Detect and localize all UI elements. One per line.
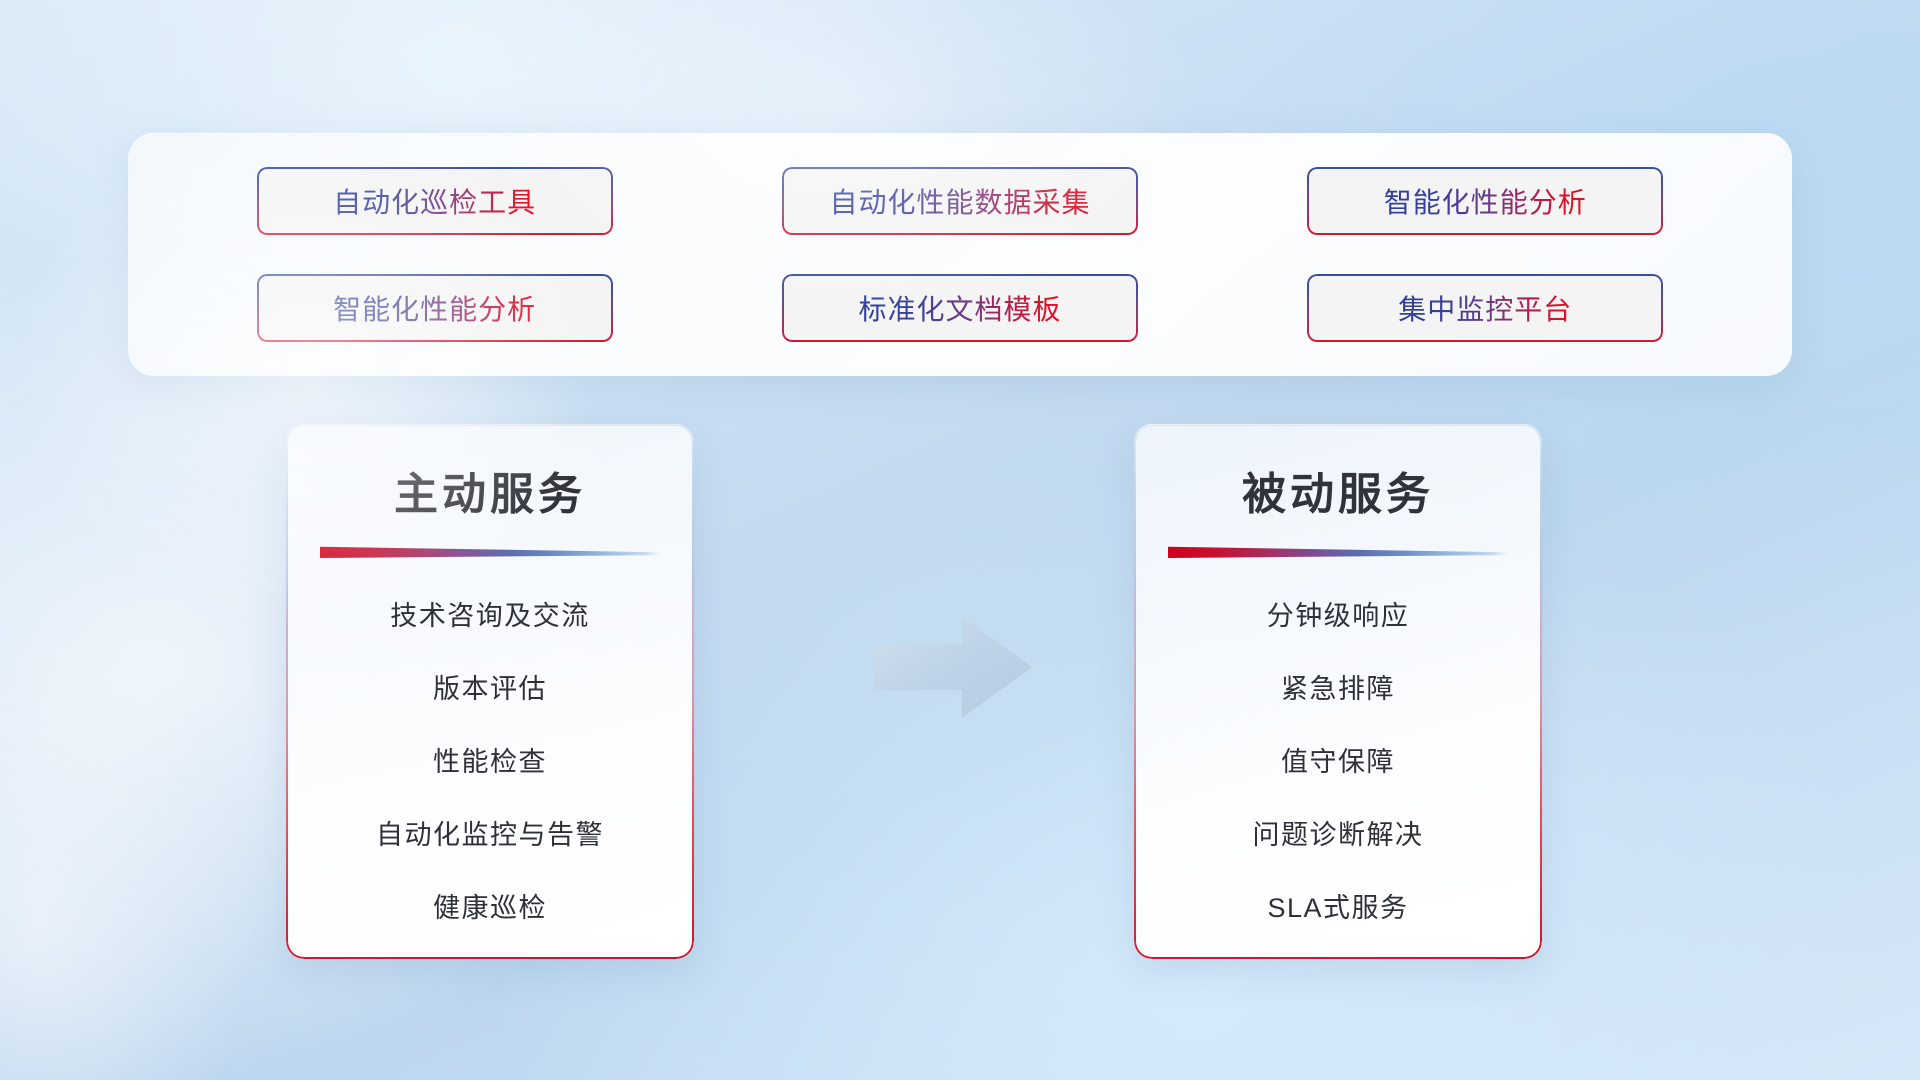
capability-chip-3[interactable]: 智能化性能分析: [1307, 167, 1663, 235]
arrow-right-icon: [874, 614, 1032, 720]
service-card-reactive: 被动服务 分钟级响应 紧急排障 值守保障 问题诊断解决 SLA式服务: [1134, 424, 1542, 959]
capability-chip-2[interactable]: 自动化性能数据采集: [782, 167, 1138, 235]
divider-gradient-bar: [1168, 546, 1508, 558]
list-item: 自动化监控与告警: [286, 813, 694, 852]
list-item: 分钟级响应: [1134, 594, 1542, 633]
capability-chip-label: 智能化性能分析: [1384, 181, 1587, 221]
card-divider: [320, 546, 660, 558]
capability-chip-label: 自动化巡检工具: [333, 181, 536, 221]
card-title: 主动服务: [286, 458, 694, 522]
capability-chip-label: 标准化文档模板: [858, 288, 1061, 328]
slide-canvas: 自动化巡检工具 自动化性能数据采集 智能化性能分析 智能化性能分析 标准化文档模…: [0, 0, 1920, 1080]
capability-chip-label: 智能化性能分析: [333, 288, 536, 328]
service-card-proactive: 主动服务 技术咨询及交流 版本评估 性能检查 自动化监控与告警 健康巡检: [286, 424, 694, 959]
capability-chip-label: 自动化性能数据采集: [829, 181, 1090, 221]
list-item: 版本评估: [286, 667, 694, 706]
card-title: 被动服务: [1134, 458, 1542, 522]
list-item: 技术咨询及交流: [286, 594, 694, 633]
service-list-proactive: 技术咨询及交流 版本评估 性能检查 自动化监控与告警 健康巡检: [286, 594, 694, 925]
capability-chip-6[interactable]: 集中监控平台: [1307, 274, 1663, 342]
capability-chip-5[interactable]: 标准化文档模板: [782, 274, 1138, 342]
divider-gradient-bar: [320, 546, 660, 558]
list-item: 紧急排障: [1134, 667, 1542, 706]
list-item: 性能检查: [286, 740, 694, 779]
capability-panel: 自动化巡检工具 自动化性能数据采集 智能化性能分析 智能化性能分析 标准化文档模…: [128, 133, 1792, 376]
capability-chip-1[interactable]: 自动化巡检工具: [257, 167, 613, 235]
service-list-reactive: 分钟级响应 紧急排障 值守保障 问题诊断解决 SLA式服务: [1134, 594, 1542, 925]
capability-chip-4[interactable]: 智能化性能分析: [257, 274, 613, 342]
capability-chip-label: 集中监控平台: [1398, 288, 1572, 328]
list-item: 值守保障: [1134, 740, 1542, 779]
card-divider: [1168, 546, 1508, 558]
list-item: 健康巡检: [286, 886, 694, 925]
list-item: SLA式服务: [1134, 886, 1542, 925]
list-item: 问题诊断解决: [1134, 813, 1542, 852]
